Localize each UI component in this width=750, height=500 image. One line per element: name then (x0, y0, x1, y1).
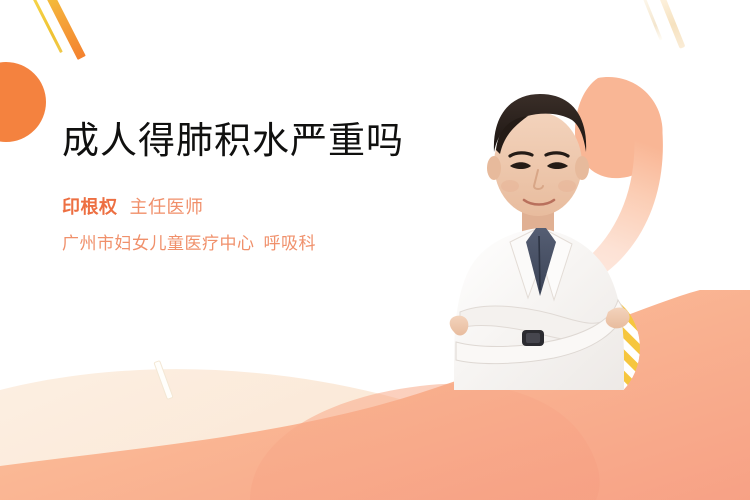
doctor-affiliation-row: 广州市妇女儿童医疗中心呼吸科 (62, 232, 422, 257)
doctor-info-card: 成人得肺积水严重吗 印根权主任医师 广州市妇女儿童医疗中心呼吸科 (0, 0, 750, 500)
doctor-portrait (430, 60, 720, 390)
page-title: 成人得肺积水严重吗 (62, 118, 422, 163)
diagonal-stripe-top-right-b (640, 0, 662, 41)
portrait-group (430, 60, 720, 390)
diagonal-stripe-top-right-a (657, 0, 686, 49)
diagonal-stripe-top-left-thin (30, 0, 63, 53)
doctor-name: 印根权 (62, 197, 118, 218)
doctor-department: 呼吸科 (264, 234, 317, 254)
doctor-name-row: 印根权主任医师 (62, 195, 422, 221)
doctor-hospital: 广州市妇女儿童医疗中心 (62, 234, 255, 254)
doctor-meta: 印根权主任医师 广州市妇女儿童医疗中心呼吸科 (62, 195, 422, 257)
text-block: 成人得肺积水严重吗 印根权主任医师 广州市妇女儿童医疗中心呼吸科 (62, 118, 422, 257)
hand-left (450, 316, 469, 336)
doctor-rank: 主任医师 (130, 197, 204, 218)
diagonal-stripe-top-left-thick (43, 0, 86, 60)
orange-circle-decoration (0, 62, 46, 142)
